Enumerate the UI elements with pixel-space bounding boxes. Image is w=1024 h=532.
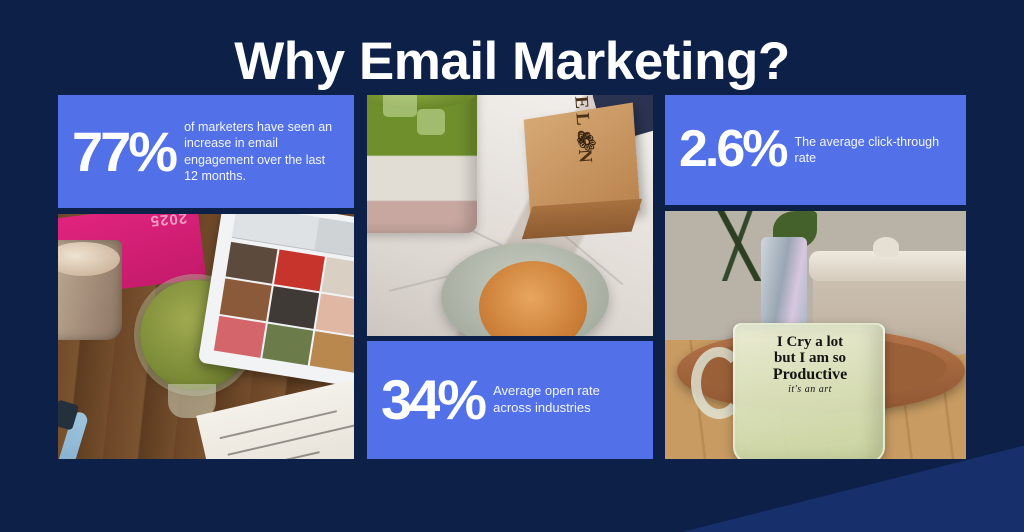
quote-line-4: it's an art <box>739 385 881 396</box>
grid-thumb <box>226 242 278 284</box>
stat-description-26: The average click-through rate <box>786 134 952 167</box>
column-right: 2.6% The average click-through rate I Cr… <box>665 95 966 459</box>
note-line <box>228 420 354 455</box>
quote-line-2: but I am so <box>774 350 846 366</box>
stat-card-marketers-engagement[interactable]: 77% of marketers have seen an increase i… <box>58 95 354 208</box>
stat-card-open-rate[interactable]: 34% Average open rate across industries <box>367 341 653 459</box>
column-left: 77% of marketers have seen an increase i… <box>58 95 354 459</box>
pot-knob <box>873 237 899 257</box>
planner-year-label: 2025 <box>149 214 188 229</box>
stat-number-34: 34% <box>381 373 484 426</box>
tablet-photo-grid <box>214 242 354 373</box>
ice-cube <box>383 95 417 117</box>
infographic-grid: 77% of marketers have seen an increase i… <box>58 95 966 459</box>
quote-line-3: Productive <box>773 366 847 383</box>
stat-number-26: 2.6% <box>679 125 786 174</box>
quote-line-1: I Cry a lot <box>777 334 843 350</box>
ice-cube <box>417 109 445 135</box>
grid-thumb <box>262 323 314 365</box>
mug-quote-text: I Cry a lot but I am so Productive it's … <box>739 335 881 395</box>
stat-description-77: of marketers have seen an increase in em… <box>175 119 340 184</box>
stat-description-34: Average open rate across industries <box>484 383 639 417</box>
photo-desk-flatlay: 2025 <box>58 214 354 459</box>
stat-card-click-through-rate[interactable]: 2.6% The average click-through rate <box>665 95 966 205</box>
grid-thumb <box>310 331 354 373</box>
brush-signature: ❁ <box>570 128 601 151</box>
grid-thumb <box>214 316 266 358</box>
note-line <box>220 410 337 438</box>
grid-thumb <box>268 286 320 328</box>
column-middle: EL&N ❁ 34% Average open rate across indu… <box>367 95 653 459</box>
stat-number-77: 77% <box>72 125 175 178</box>
grid-thumb <box>220 279 272 321</box>
page-title: Why Email Marketing? <box>0 34 1024 90</box>
tablet-device <box>198 214 354 388</box>
photo-cafe-marble-table: EL&N ❁ <box>367 95 653 336</box>
grid-thumb <box>322 257 354 299</box>
photo-quote-mug: I Cry a lot but I am so Productive it's … <box>665 211 966 459</box>
grid-thumb <box>274 249 326 291</box>
grid-thumb <box>316 294 354 336</box>
